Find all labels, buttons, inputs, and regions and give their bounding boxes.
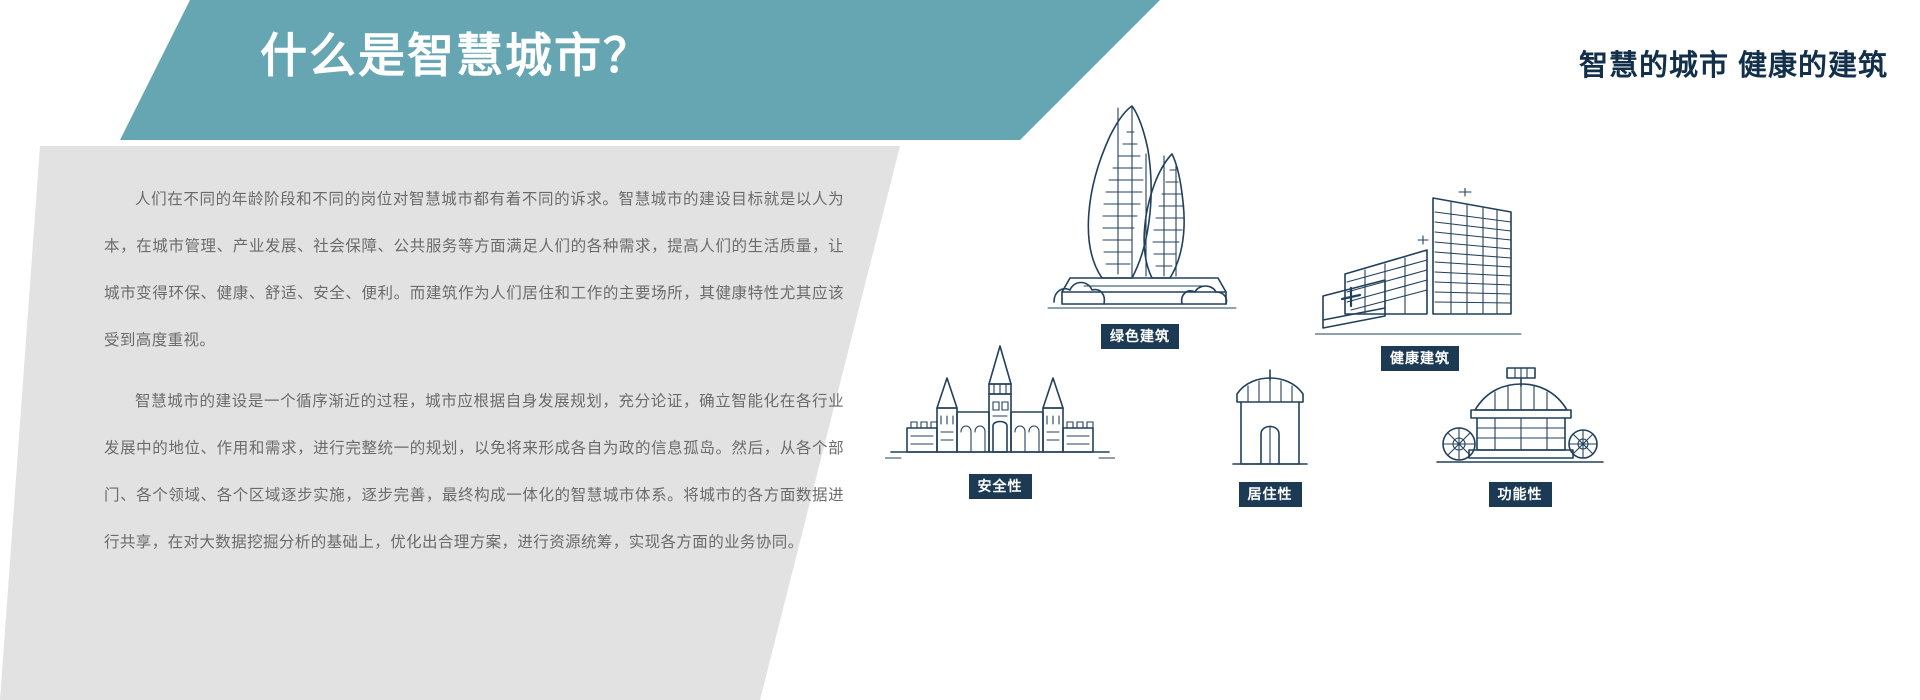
illustration-label: 安全性 [969, 474, 1032, 499]
body-copy: 人们在不同的年龄阶段和不同的岗位对智慧城市都有着不同的诉求。智慧城市的建设目标就… [104, 176, 844, 566]
illustration-group: 绿色建筑 [860, 96, 1920, 566]
illustration-livability: 居住性 [1160, 364, 1380, 507]
illustration-green-building: 绿色建筑 [1010, 96, 1270, 349]
hospital-health-building-icon [1315, 188, 1525, 338]
slide-headline: 智慧的城市 健康的建筑 [1579, 42, 1888, 84]
illustration-label: 居住性 [1239, 482, 1302, 507]
illustration-function: 功能性 [1390, 364, 1650, 507]
page-title: 什么是智慧城市？ [260, 32, 652, 79]
pavilion-function-icon [1435, 364, 1605, 474]
illustration-security: 安全性 [860, 344, 1140, 499]
paragraph-1: 人们在不同的年龄阶段和不同的岗位对智慧城市都有着不同的诉求。智慧城市的建设目标就… [104, 176, 844, 364]
twin-towers-green-building-icon [1040, 96, 1240, 316]
slide-canvas: 什么是智慧城市？ 智慧的城市 健康的建筑 人们在不同的年龄阶段和不同的岗位对智慧… [0, 0, 1920, 700]
illustration-label: 功能性 [1489, 482, 1552, 507]
illustration-health-building: 健康建筑 [1290, 188, 1550, 371]
house-home-livability-icon [1215, 364, 1325, 474]
castle-fortress-security-icon [885, 344, 1115, 466]
paragraph-2: 智慧城市的建设是一个循序渐近的过程，城市应根据自身发展规划，充分论证，确立智能化… [104, 378, 844, 566]
